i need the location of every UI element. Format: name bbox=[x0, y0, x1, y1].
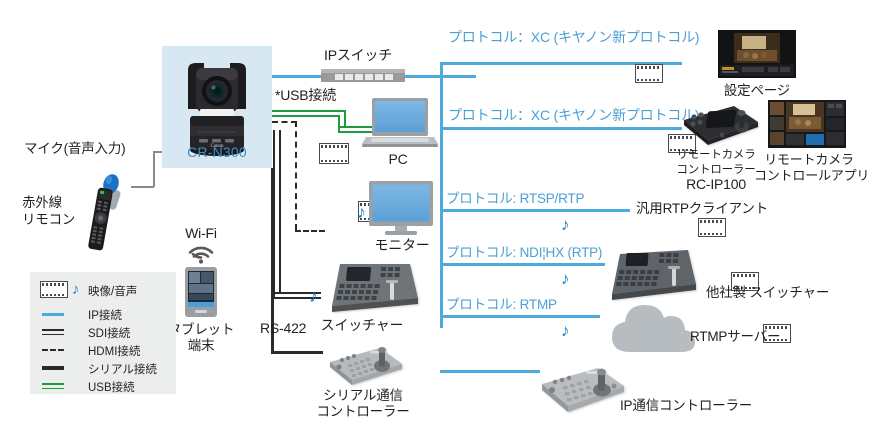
sdi-line-vertical-b bbox=[279, 130, 281, 292]
legend-swatch-hdmi bbox=[42, 349, 64, 351]
ip-switch-icon bbox=[321, 68, 405, 84]
hdmi-line-bottom bbox=[295, 230, 325, 232]
ip-rail-rtsp bbox=[440, 209, 630, 212]
usb-line-seg1-h bbox=[272, 110, 346, 112]
camera-model-label: CR-N300 bbox=[162, 144, 272, 160]
legend-swatch-usb bbox=[42, 383, 64, 385]
usb-line-seg1-h2 bbox=[272, 115, 340, 117]
film-icon bbox=[40, 281, 68, 298]
protocol-label-rtsp: プロトコル: RTSP/RTP bbox=[446, 191, 584, 206]
hdmi-line-top bbox=[272, 121, 297, 123]
ip-controller-label: IP通信コントローラー bbox=[620, 398, 752, 413]
film-icon-xc-1 bbox=[635, 64, 663, 83]
ir-remote-icon bbox=[82, 186, 118, 252]
cloud-icon bbox=[606, 300, 698, 356]
music-note-icon-ndihx: ♪ bbox=[561, 270, 570, 287]
video-switcher-icon bbox=[322, 258, 418, 314]
rc-ip100-label: リモートカメラコントローラーRC-IP100 bbox=[668, 148, 764, 194]
serial-controller-label: シリアル通信コントローラー bbox=[300, 388, 426, 420]
mic-line-horizontal-bottom bbox=[131, 186, 154, 188]
camera-card[interactable]: Canon CR-N300 bbox=[162, 46, 272, 168]
legend-item-sdi: SDI接続 bbox=[40, 324, 176, 341]
settings-page-thumbnail bbox=[718, 30, 796, 78]
serial-controller-icon bbox=[322, 340, 404, 386]
legend-item-av: ♪ 映像/音声 bbox=[40, 280, 176, 300]
monitor-label: モニター bbox=[362, 238, 442, 253]
remote-label: 赤外線リモコン bbox=[22, 194, 75, 228]
pc-label: PC bbox=[368, 152, 428, 167]
mic-label: マイク(音声入力) bbox=[24, 141, 125, 156]
usb-note-label: *USB接続 bbox=[275, 88, 336, 103]
tablet-icon bbox=[184, 266, 218, 318]
ip-rail-ipctrl bbox=[440, 370, 540, 373]
tablet-label: タブレット端末 bbox=[166, 322, 236, 354]
legend-box: ♪ 映像/音声 IP接続 SDI接続 HDMI接続 シリアル接続 USB接続 bbox=[30, 272, 176, 394]
third-party-switcher-icon bbox=[602, 246, 698, 300]
legend-label-usb: USB接続 bbox=[88, 379, 135, 395]
pc-laptop-icon bbox=[362, 96, 438, 150]
legend-label-ip: IP接続 bbox=[88, 307, 122, 323]
legend-item-serial: シリアル接続 bbox=[40, 360, 176, 377]
rc-app-thumbnail bbox=[768, 100, 846, 148]
legend-label-hdmi: HDMI接続 bbox=[88, 343, 140, 359]
switcher-label: スイッチャー bbox=[312, 318, 412, 333]
ip-switch-label: IPスイッチ bbox=[324, 48, 392, 63]
legend-swatch-usb-2 bbox=[42, 388, 64, 390]
legend-swatch-ip bbox=[42, 313, 64, 316]
protocol-label-xc-1: プロトコル：XC (キヤノン新プロトコル) bbox=[448, 30, 699, 45]
legend-item-ip: IP接続 bbox=[40, 306, 176, 323]
legend-label-sdi: SDI接続 bbox=[88, 325, 130, 341]
legend-swatch-sdi-2 bbox=[42, 334, 64, 336]
ip-controller-icon bbox=[534, 360, 628, 414]
music-note-icon: ♪ bbox=[72, 282, 80, 297]
legend-label-serial: シリアル接続 bbox=[88, 361, 157, 377]
wifi-icon bbox=[186, 244, 216, 264]
protocol-label-xc-2: プロトコル：XC (キヤノン新プロトコル) bbox=[448, 108, 699, 123]
rc-ip100-controller-icon bbox=[678, 100, 762, 148]
monitor-icon bbox=[368, 180, 434, 236]
settings-page-label: 設定ページ bbox=[710, 83, 804, 98]
mic-line-vertical bbox=[153, 151, 155, 187]
wifi-label: Wi-Fi bbox=[168, 226, 234, 241]
film-icon-rtsp bbox=[698, 218, 726, 237]
hdmi-line-vertical bbox=[295, 121, 297, 230]
ip-line-camera-to-switch bbox=[271, 75, 321, 78]
rc-app-label: リモートカメラコントロールアプリ bbox=[754, 152, 864, 184]
ip-rail-rtmp bbox=[440, 315, 600, 318]
protocol-label-rtmp: プロトコル: RTMP bbox=[446, 297, 557, 312]
music-note-icon-rtsp: ♪ bbox=[561, 216, 570, 233]
third-party-switcher-label: 他社製 スイッチャー bbox=[706, 285, 829, 300]
legend-swatch-serial bbox=[42, 366, 64, 370]
legend-swatch-sdi bbox=[42, 329, 64, 331]
legend-label-av: 映像/音声 bbox=[88, 283, 137, 299]
ptz-camera-icon: Canon bbox=[176, 54, 258, 158]
film-icon-usb bbox=[319, 143, 349, 164]
ip-rail-ndihx bbox=[440, 263, 605, 266]
ip-rail-xc-2 bbox=[440, 127, 682, 130]
music-note-icon-hdmi: ♪ bbox=[357, 203, 366, 221]
serial-line-horizontal bbox=[271, 351, 323, 354]
music-note-icon-sdi: ♪ bbox=[309, 287, 318, 305]
legend-item-usb: USB接続 bbox=[40, 378, 176, 395]
rtmp-server-label: RTMPサーバー bbox=[690, 329, 780, 344]
protocol-label-ndihx: プロトコル: NDI¦HX (RTP) bbox=[446, 245, 602, 260]
legend-item-hdmi: HDMI接続 bbox=[40, 342, 176, 359]
ip-bus-vertical bbox=[440, 62, 443, 328]
rs422-label: RS-422 bbox=[260, 321, 306, 336]
rtp-client-label: 汎用RTPクライアント bbox=[636, 201, 768, 216]
music-note-icon-rtmp: ♪ bbox=[561, 322, 570, 339]
connection-diagram: Canon CR-N300 マイク(音声入力) 赤外線リモコン bbox=[0, 0, 880, 445]
